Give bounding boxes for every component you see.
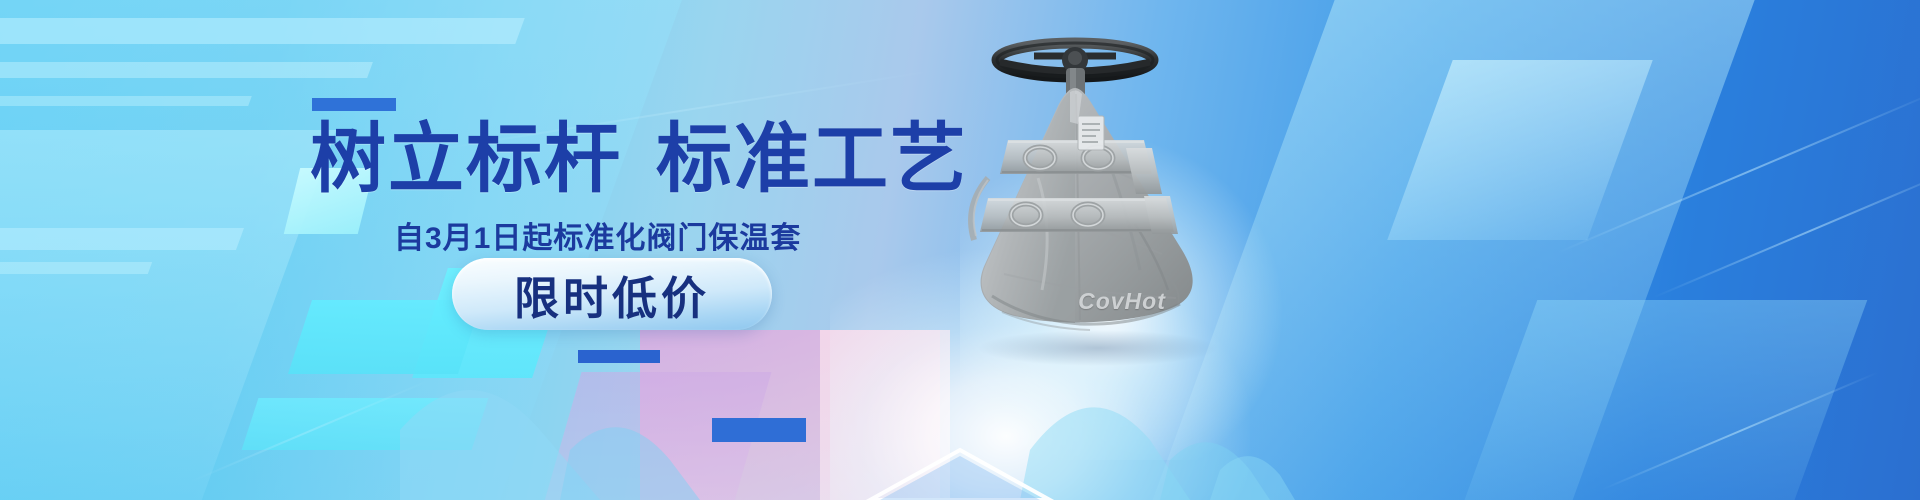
product-image	[930, 28, 1260, 368]
banner-subtitle: 自3月1日起标准化阀门保温套	[394, 213, 801, 257]
page-title: 树立标杆标准工艺	[310, 122, 968, 198]
rectangle-accent-icon	[312, 98, 396, 111]
background-streak-5	[0, 262, 152, 274]
product-logo-text: CovHot	[1062, 288, 1182, 315]
background-streak-1	[0, 18, 525, 44]
background-streak-2	[0, 62, 373, 78]
cta-label: 限时低价	[452, 258, 772, 330]
background-streak-3	[0, 96, 252, 106]
promotional-banner: 树立标杆标准工艺 自3月1日起标准化阀门保温套 限时低价	[0, 0, 1920, 500]
title-part-2: 标准工艺	[656, 117, 968, 202]
title-part-1: 树立标杆	[310, 117, 622, 202]
background-parallelogram-right-top	[1387, 60, 1653, 240]
background-diagonal-line-2	[1653, 164, 1920, 299]
rectangle-accent-mid-icon	[712, 418, 806, 442]
cta-pill-button[interactable]: 限时低价	[452, 258, 772, 330]
rectangle-underline-icon	[578, 350, 660, 363]
background-streak-4	[0, 228, 244, 250]
background-diagonal-line-1	[1556, 88, 1920, 254]
